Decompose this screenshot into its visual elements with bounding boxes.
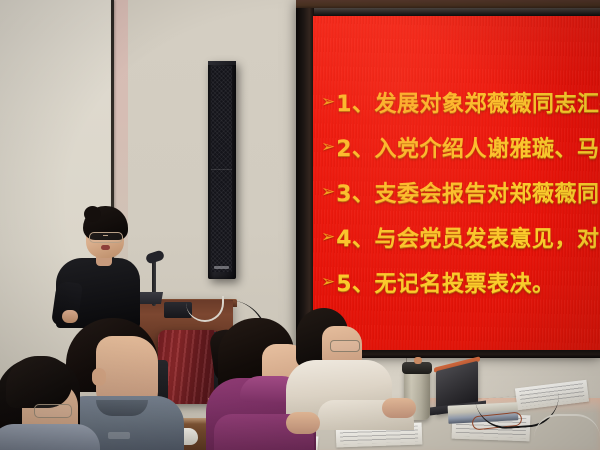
agenda-item-2: ➢ 2、入党介绍人谢雅璇、马泽 [321, 124, 600, 169]
agenda-item-5: ➢ 5、无记名投票表决。 [321, 259, 600, 304]
attendee-woman-glasses-fringe [6, 356, 72, 408]
attendee-man-blue-ear [92, 368, 106, 386]
attendee-man-blue-logo [108, 432, 130, 439]
arrow-bullet-icon: ➢ [321, 273, 335, 290]
agenda-item-3-text: 3、支委会报告对郑薇薇同志 [336, 176, 600, 208]
agenda-item-4-text: 4、与会党员发表意见，对郑 [336, 221, 600, 253]
presenter-glasses [89, 232, 123, 243]
agenda-item-1: ➢ 1、发展对象郑薇薇同志汇报 [321, 79, 600, 124]
arrow-bullet-icon: ➢ [321, 93, 335, 110]
presenter-glasses-bridge [103, 235, 108, 236]
agenda-item-5-text: 5、无记名投票表决。 [336, 266, 554, 298]
agenda-list: ➢ 1、发展对象郑薇薇同志汇报 ➢ 2、入党介绍人谢雅璇、马泽 ➢ 3、支委会报… [321, 79, 600, 304]
agenda-item-2-text: 2、入党介绍人谢雅璇、马泽 [336, 131, 600, 163]
presenter-hand [62, 310, 78, 323]
column-speaker [208, 61, 236, 279]
meeting-room-photo: ➢ 1、发展对象郑薇薇同志汇报 ➢ 2、入党介绍人谢雅璇、马泽 ➢ 3、支委会报… [0, 0, 600, 450]
agenda-item-3: ➢ 3、支委会报告对郑薇薇同志 [321, 169, 600, 214]
attendee-man-blue-collar [96, 400, 148, 416]
arrow-bullet-icon: ➢ [321, 138, 335, 155]
screen-bezel-top [300, 8, 600, 16]
attendee-woman-glasses-eyewear [34, 404, 72, 418]
presenter-hair-bun [84, 206, 101, 222]
attendee-beige-hand [382, 398, 416, 418]
tumbler-knob [414, 357, 422, 364]
agenda-item-1-text: 1、发展对象郑薇薇同志汇报 [336, 86, 600, 118]
speaker-top-cap [208, 61, 236, 65]
attendee-beige-glasses [330, 340, 360, 352]
attendee-woman-glasses-shoulder [0, 424, 100, 450]
speaker-seam [211, 169, 232, 170]
arrow-bullet-icon: ➢ [321, 228, 335, 245]
led-display: ➢ 1、发展对象郑薇薇同志汇报 ➢ 2、入党介绍人谢雅璇、马泽 ➢ 3、支委会报… [313, 16, 600, 352]
attendee-woman-purple-hand [286, 412, 320, 434]
cable-white [534, 414, 600, 438]
presenter-mouth [101, 245, 110, 250]
screen-bezel-left [296, 8, 314, 354]
arrow-bullet-icon: ➢ [321, 183, 335, 200]
speaker-logo [214, 266, 229, 269]
agenda-item-4: ➢ 4、与会党员发表意见，对郑 [321, 214, 600, 259]
